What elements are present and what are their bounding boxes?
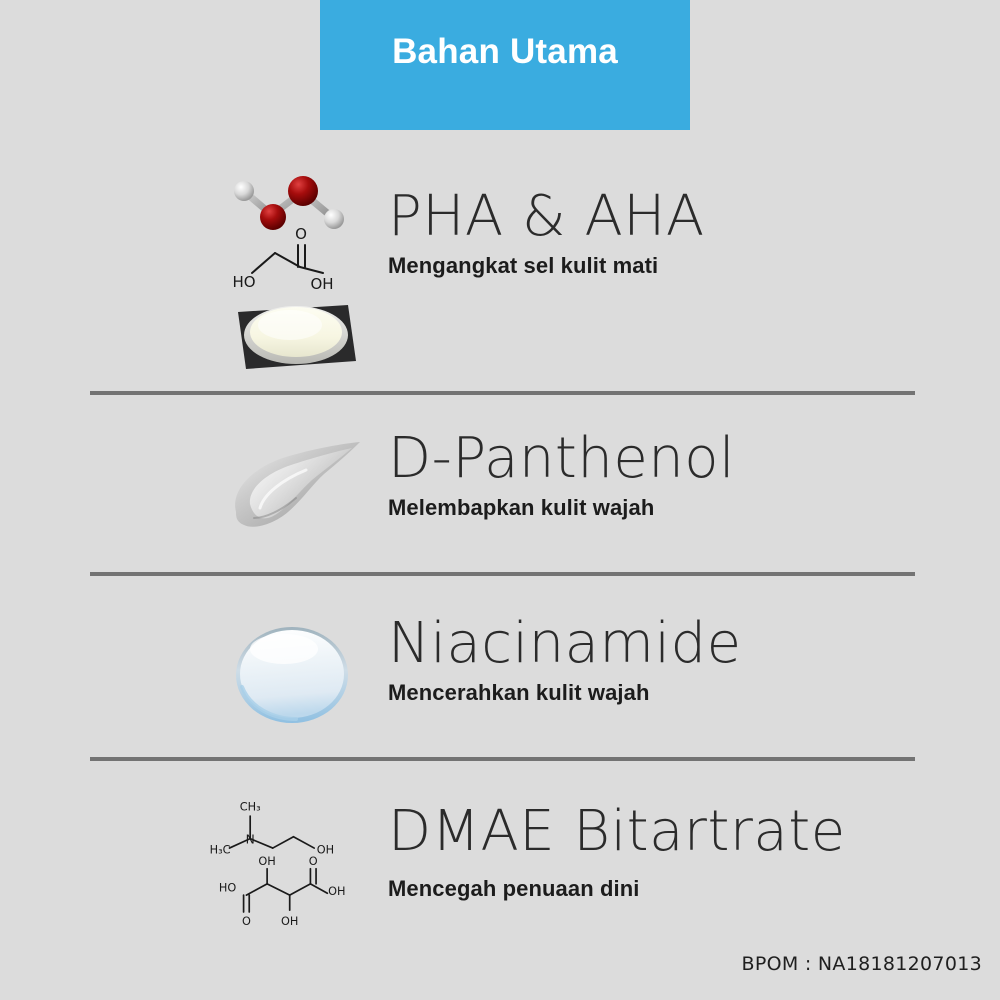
label-n: N xyxy=(246,832,255,846)
label-o-top-right: O xyxy=(309,855,318,868)
droplet-dome-icon xyxy=(215,610,375,740)
bond-to-far-oh xyxy=(310,884,327,893)
label-ch3-top: CH₃ xyxy=(240,800,261,813)
formula-label-ho-left: HO xyxy=(232,273,255,291)
ingredient-text-niacinamide: Niacinamide Mencerahkan kulit wajah xyxy=(388,615,742,706)
label-oh-lower: OH xyxy=(281,915,298,928)
ingredient-row-niacinamide: Niacinamide Mencerahkan kulit wajah xyxy=(0,610,1000,740)
d-panthenol-icon-svg xyxy=(220,430,370,550)
droplet-highlight xyxy=(250,634,318,664)
ingredient-infographic-page: { "header": { "title": "Bahan Utama", "b… xyxy=(0,0,1000,1000)
ingredient-row-d-panthenol: D-Panthenol Melembapkan kulit wajah xyxy=(0,425,1000,555)
ingredient-title: Niacinamide xyxy=(388,615,742,674)
ingredient-title: DMAE Bitartrate xyxy=(388,803,846,862)
header-banner: Bahan Utama xyxy=(320,0,690,130)
ingredient-title: PHA & AHA xyxy=(388,188,705,247)
label-oh-far-right: OH xyxy=(328,885,345,898)
ingredient-subtitle: Mengangkat sel kulit mati xyxy=(388,253,705,279)
ingredient-subtitle: Mencegah penuaan dini xyxy=(388,876,846,902)
tartaric-acid-skeleton xyxy=(244,869,316,912)
divider-2 xyxy=(90,572,915,576)
label-ho-left: HO xyxy=(219,881,236,894)
gel-smear-icon xyxy=(215,425,375,555)
label-oh-right: OH xyxy=(317,844,334,857)
ingredient-text-dmae-bitartrate: DMAE Bitartrate Mencegah penuaan dini xyxy=(388,803,846,902)
ingredient-text-pha-aha: PHA & AHA Mengangkat sel kulit mati xyxy=(388,188,705,279)
ingredient-title: D-Panthenol xyxy=(388,430,735,489)
petri-dish-photo xyxy=(238,305,356,369)
dmae-bitartrate-structure-icon: CH₃ N H₃C OH HO OH OH O O OH xyxy=(205,785,365,945)
dmae-amine-skeleton xyxy=(229,816,314,848)
divider-3 xyxy=(90,757,915,761)
divider-1 xyxy=(90,391,915,395)
ingredient-row-dmae-bitartrate: CH₃ N H₃C OH HO OH OH O O OH xyxy=(0,785,1000,945)
formula-label-oh-right: OH xyxy=(310,275,333,293)
formula-label-o-top: O xyxy=(295,225,307,243)
ball-stick-model xyxy=(234,176,344,230)
page-title: Bahan Utama xyxy=(392,34,618,69)
dmae-icon-svg: CH₃ N H₃C OH HO OH OH O O OH xyxy=(205,785,365,945)
ingredient-subtitle: Melembapkan kulit wajah xyxy=(388,495,735,521)
ingredient-row-pha-aha: HO OH O PHA & AHA Mengangkat sel kulit m… xyxy=(0,170,1000,380)
label-oh-upper: OH xyxy=(258,855,275,868)
ingredient-text-d-panthenol: D-Panthenol Melembapkan kulit wajah xyxy=(388,430,735,521)
ingredient-subtitle: Mencerahkan kulit wajah xyxy=(388,680,742,706)
label-h3c-left: H₃C xyxy=(210,844,231,857)
glycolic-acid-molecule-and-petri-dish-icon: HO OH O xyxy=(215,170,375,380)
niacinamide-icon-svg xyxy=(220,615,370,735)
label-o-bottom: O xyxy=(242,915,251,928)
bpom-registration-number: BPOM : NA18181207013 xyxy=(741,953,982,975)
glycolic-acid-formula xyxy=(252,245,323,273)
pha-aha-icon-svg: HO OH O xyxy=(220,175,370,375)
